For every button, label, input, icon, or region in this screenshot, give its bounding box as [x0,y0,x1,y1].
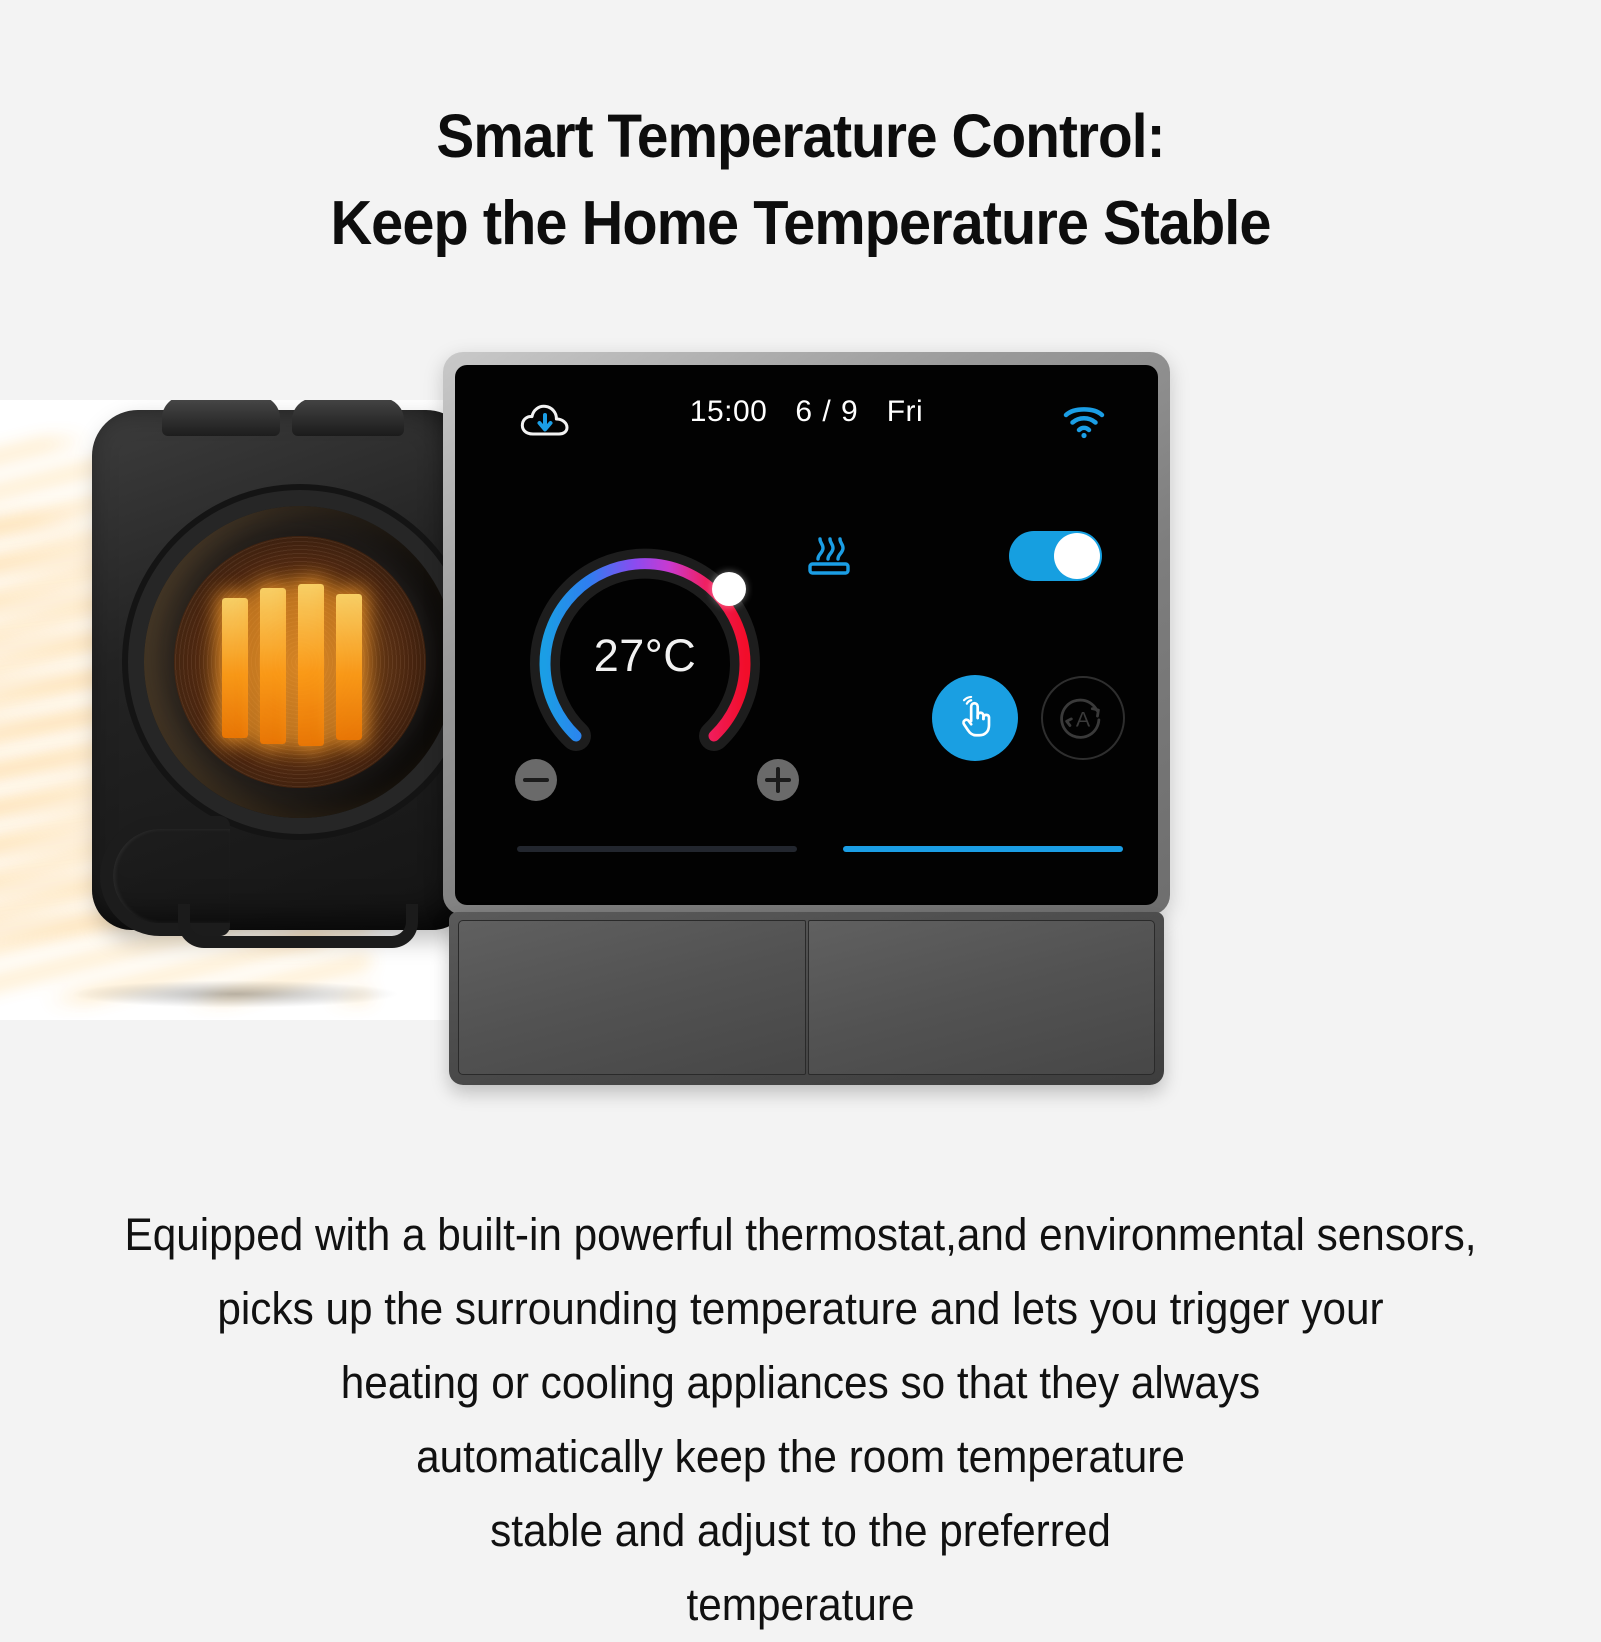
auto-a-loop-icon: A [1055,690,1111,746]
paragraph-line: automatically keep the room temperature [48,1420,1553,1494]
heater-top-knob-left [162,400,280,436]
wifi-icon[interactable] [1062,403,1106,439]
heating-element-bar [222,598,248,738]
current-temperature: 27°C [515,523,775,783]
status-bar-center: 15:00 6 / 9 Fri [455,395,1158,429]
heating-element-bar [260,588,286,744]
temperature-increase-button[interactable] [757,759,799,801]
minus-icon [523,778,549,782]
device-screen: 15:00 6 / 9 Fri [455,365,1158,905]
rocker-switch-right[interactable] [808,920,1156,1075]
heater-grille [174,536,426,788]
manual-mode-button[interactable] [932,675,1018,761]
hand-tap-icon [952,695,998,741]
heater-body [92,410,470,930]
heating-element-bar [336,594,362,740]
headline-line-1: Smart Temperature Control: [436,102,1164,170]
channel-1-indicator [517,846,797,852]
toggle-knob [1054,533,1100,579]
status-date: 6 / 9 [795,395,858,429]
paragraph-line: heating or cooling appliances so that th… [48,1346,1553,1420]
page-title: Smart Temperature Control: Keep the Home… [56,92,1545,268]
temperature-decrease-button[interactable] [515,759,557,801]
headline-line-2: Keep the Home Temperature Stable [56,180,1545,268]
status-weekday: Fri [887,395,923,429]
heater-foot-stand [178,904,418,948]
heater-shadow [70,980,400,1008]
temperature-dial[interactable]: 27°C [515,523,775,783]
svg-text:A: A [1076,707,1091,731]
paragraph-line: temperature [48,1568,1553,1642]
status-bar: 15:00 6 / 9 Fri [455,365,1158,473]
device-bezel: 15:00 6 / 9 Fri [443,352,1170,915]
paragraph-line: picks up the surrounding temperature and… [48,1272,1553,1346]
paragraph-line: Equipped with a built-in powerful thermo… [48,1198,1553,1272]
status-time: 15:00 [690,395,768,429]
switch-panel [449,912,1164,1085]
heater-drum [144,506,456,818]
thermostat-device: 15:00 6 / 9 Fri [443,352,1170,1085]
product-photo-heater [0,400,470,1020]
plus-icon-vertical [776,767,780,793]
heating-element-bar [298,584,324,746]
paragraph-line: stable and adjust to the preferred [48,1494,1553,1568]
channel-2-indicator [843,846,1123,852]
auto-mode-button[interactable]: A [1041,676,1125,760]
rocker-switch-left[interactable] [458,920,806,1075]
floor-heating-icon[interactable] [804,533,854,579]
power-toggle[interactable] [1009,531,1102,581]
heater-top-knob-right [292,400,404,436]
description-paragraph: Equipped with a built-in powerful thermo… [48,1198,1553,1642]
